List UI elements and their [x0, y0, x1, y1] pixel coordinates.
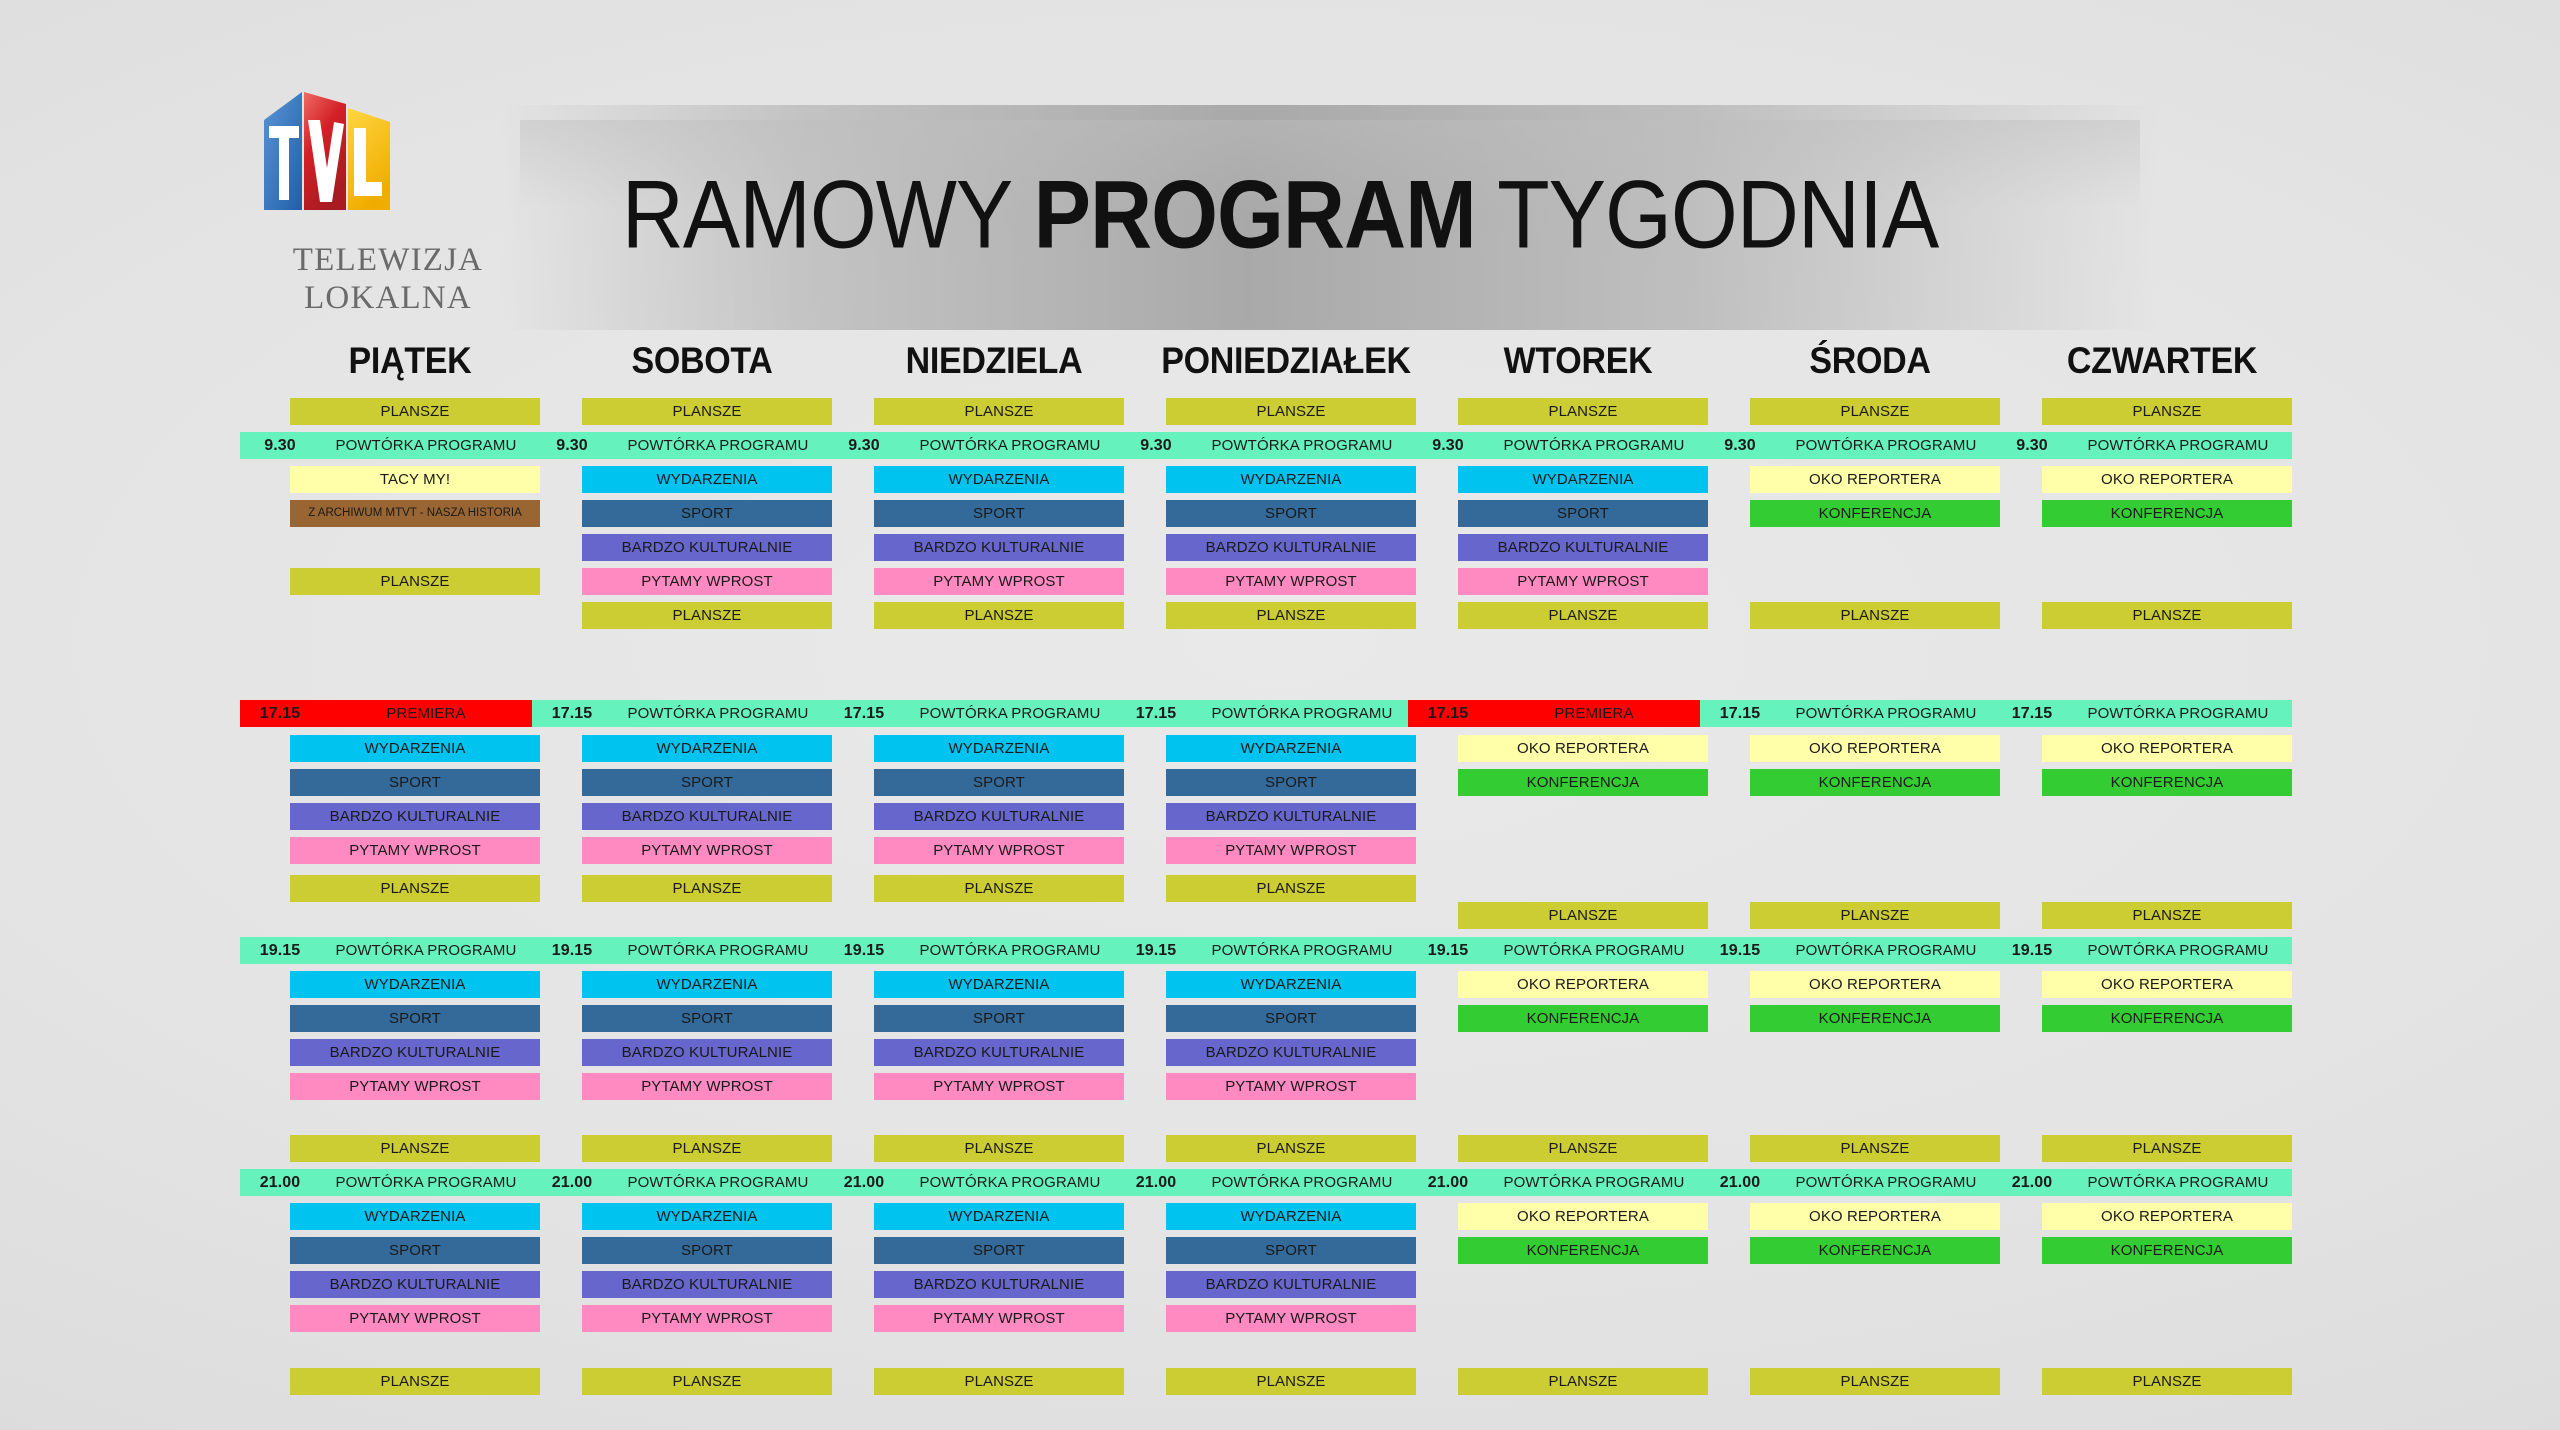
program-block-plansze[interactable]: PLANSZE: [1750, 1135, 2000, 1162]
program-block-sport[interactable]: SPORT: [290, 769, 540, 796]
program-block-wydarzenia[interactable]: WYDARZENIA: [1166, 971, 1416, 998]
program-block-wydarzenia[interactable]: WYDARZENIA: [290, 1203, 540, 1230]
page-title-part2: TYGODNIA: [1476, 161, 1939, 269]
program-block-konferencja[interactable]: KONFERENCJA: [2042, 1005, 2292, 1032]
program-block-pytamy[interactable]: PYTAMY WPROST: [874, 1305, 1124, 1332]
program-block-sport[interactable]: SPORT: [582, 1005, 832, 1032]
program-block-kulturalnie[interactable]: BARDZO KULTURALNIE: [1458, 534, 1708, 561]
program-label: POWTÓRKA PROGRAMU: [1780, 1169, 1992, 1196]
program-label: PREMIERA: [1488, 700, 1700, 727]
program-time: 17.15: [1408, 700, 1488, 727]
program-time: 19.15: [240, 937, 320, 964]
program-block-wydarzenia[interactable]: WYDARZENIA: [290, 971, 540, 998]
program-time: 9.30: [1408, 432, 1488, 459]
program-block-premiera[interactable]: 17.15PREMIERA: [240, 700, 540, 727]
day-header-sobota: SOBOTA: [552, 340, 852, 383]
program-block-plansze[interactable]: PLANSZE: [1458, 1368, 1708, 1395]
program-label: POWTÓRKA PROGRAMU: [2072, 700, 2284, 727]
page-title-bold: PROGRAM: [1034, 161, 1476, 269]
program-label: POWTÓRKA PROGRAMU: [904, 700, 1116, 727]
program-block-powtorka[interactable]: 21.00POWTÓRKA PROGRAMU: [240, 1169, 540, 1196]
program-block-powtorka[interactable]: 21.00POWTÓRKA PROGRAMU: [1700, 1169, 2000, 1196]
program-block-plansze[interactable]: PLANSZE: [874, 398, 1124, 425]
program-block-wydarzenia[interactable]: WYDARZENIA: [582, 1203, 832, 1230]
day-header-czwartek: CZWARTEK: [2012, 340, 2312, 383]
program-time: 21.00: [1700, 1169, 1780, 1196]
program-block-konferencja[interactable]: KONFERENCJA: [2042, 500, 2292, 527]
program-block-pytamy[interactable]: PYTAMY WPROST: [1166, 1073, 1416, 1100]
program-block-powtorka[interactable]: 19.15POWTÓRKA PROGRAMU: [824, 937, 1124, 964]
program-label: POWTÓRKA PROGRAMU: [1780, 937, 1992, 964]
program-time: 21.00: [1116, 1169, 1196, 1196]
program-block-sport[interactable]: SPORT: [582, 1237, 832, 1264]
program-block-oko[interactable]: OKO REPORTERA: [1750, 971, 2000, 998]
program-block-plansze[interactable]: PLANSZE: [874, 1368, 1124, 1395]
program-block-powtorka[interactable]: 21.00POWTÓRKA PROGRAMU: [532, 1169, 832, 1196]
program-label: POWTÓRKA PROGRAMU: [612, 700, 824, 727]
program-block-plansze[interactable]: PLANSZE: [1750, 1368, 2000, 1395]
program-block-plansze[interactable]: PLANSZE: [1750, 902, 2000, 929]
program-block-pytamy[interactable]: PYTAMY WPROST: [1458, 568, 1708, 595]
program-block-plansze[interactable]: PLANSZE: [2042, 902, 2292, 929]
program-block-konferencja[interactable]: KONFERENCJA: [1750, 1237, 2000, 1264]
program-block-powtorka[interactable]: 9.30POWTÓRKA PROGRAMU: [240, 432, 540, 459]
program-block-wydarzenia[interactable]: WYDARZENIA: [1166, 466, 1416, 493]
program-label: POWTÓRKA PROGRAMU: [2072, 1169, 2284, 1196]
program-block-pytamy[interactable]: PYTAMY WPROST: [874, 837, 1124, 864]
program-time: 21.00: [532, 1169, 612, 1196]
program-label: POWTÓRKA PROGRAMU: [904, 1169, 1116, 1196]
program-block-sport[interactable]: SPORT: [1166, 1005, 1416, 1032]
program-block-plansze[interactable]: PLANSZE: [582, 1368, 832, 1395]
program-block-powtorka[interactable]: 17.15POWTÓRKA PROGRAMU: [1992, 700, 2292, 727]
day-header-poniedziałek: PONIEDZIAŁEK: [1136, 340, 1436, 383]
program-block-sport[interactable]: SPORT: [582, 500, 832, 527]
program-label: POWTÓRKA PROGRAMU: [612, 432, 824, 459]
program-block-kulturalnie[interactable]: BARDZO KULTURALNIE: [582, 1271, 832, 1298]
program-block-pytamy[interactable]: PYTAMY WPROST: [582, 568, 832, 595]
program-block-konferencja[interactable]: KONFERENCJA: [1750, 1005, 2000, 1032]
program-block-kulturalnie[interactable]: BARDZO KULTURALNIE: [582, 1039, 832, 1066]
program-label: POWTÓRKA PROGRAMU: [904, 432, 1116, 459]
program-label: POWTÓRKA PROGRAMU: [612, 937, 824, 964]
program-block-kulturalnie[interactable]: BARDZO KULTURALNIE: [1166, 1271, 1416, 1298]
program-block-archiwum[interactable]: Z ARCHIWUM MTVT - NASZA HISTORIA: [290, 500, 540, 527]
program-time: 9.30: [1700, 432, 1780, 459]
program-label: POWTÓRKA PROGRAMU: [1488, 1169, 1700, 1196]
program-block-kulturalnie[interactable]: BARDZO KULTURALNIE: [874, 534, 1124, 561]
program-block-powtorka[interactable]: 19.15POWTÓRKA PROGRAMU: [1992, 937, 2292, 964]
program-block-konferencja[interactable]: KONFERENCJA: [1458, 1005, 1708, 1032]
poster-canvas: TELEWIZJA LOKALNA RAMOWY PROGRAM TYGODNI…: [0, 0, 2560, 1430]
program-block-plansze[interactable]: PLANSZE: [290, 1368, 540, 1395]
program-label: POWTÓRKA PROGRAMU: [904, 937, 1116, 964]
program-block-plansze[interactable]: PLANSZE: [2042, 398, 2292, 425]
program-block-oko[interactable]: OKO REPORTERA: [1458, 735, 1708, 762]
program-block-pytamy[interactable]: PYTAMY WPROST: [874, 568, 1124, 595]
program-block-plansze[interactable]: PLANSZE: [290, 1135, 540, 1162]
program-time: 17.15: [824, 700, 904, 727]
program-block-plansze[interactable]: PLANSZE: [1166, 398, 1416, 425]
program-block-powtorka[interactable]: 19.15POWTÓRKA PROGRAMU: [1116, 937, 1416, 964]
program-block-oko[interactable]: OKO REPORTERA: [2042, 971, 2292, 998]
program-block-sport[interactable]: SPORT: [1166, 500, 1416, 527]
program-time: 21.00: [240, 1169, 320, 1196]
program-block-oko[interactable]: OKO REPORTERA: [1750, 735, 2000, 762]
program-block-pytamy[interactable]: PYTAMY WPROST: [582, 1073, 832, 1100]
program-block-oko[interactable]: OKO REPORTERA: [1458, 1203, 1708, 1230]
program-block-pytamy[interactable]: PYTAMY WPROST: [582, 1305, 832, 1332]
program-time: 19.15: [1992, 937, 2072, 964]
program-time: 21.00: [824, 1169, 904, 1196]
program-block-plansze[interactable]: PLANSZE: [290, 398, 540, 425]
program-block-powtorka[interactable]: 19.15POWTÓRKA PROGRAMU: [532, 937, 832, 964]
logo-line-lokalna: LOKALNA: [258, 280, 518, 317]
day-header-piątek: PIĄTEK: [260, 340, 560, 383]
program-time: 9.30: [240, 432, 320, 459]
program-label: POWTÓRKA PROGRAMU: [1780, 432, 1992, 459]
program-block-kulturalnie[interactable]: BARDZO KULTURALNIE: [290, 803, 540, 830]
program-block-plansze[interactable]: PLANSZE: [1750, 602, 2000, 629]
program-block-premiera[interactable]: 17.15PREMIERA: [1408, 700, 1708, 727]
program-block-plansze[interactable]: PLANSZE: [1458, 902, 1708, 929]
program-block-plansze[interactable]: PLANSZE: [1458, 1135, 1708, 1162]
program-time: 19.15: [1116, 937, 1196, 964]
program-block-wydarzenia[interactable]: WYDARZENIA: [582, 971, 832, 998]
program-block-wydarzenia[interactable]: WYDARZENIA: [1166, 1203, 1416, 1230]
program-label: POWTÓRKA PROGRAMU: [1488, 937, 1700, 964]
program-label: PREMIERA: [320, 700, 532, 727]
program-block-plansze[interactable]: PLANSZE: [874, 602, 1124, 629]
program-block-pytamy[interactable]: PYTAMY WPROST: [874, 1073, 1124, 1100]
program-block-wydarzenia[interactable]: WYDARZENIA: [874, 466, 1124, 493]
program-label: POWTÓRKA PROGRAMU: [1196, 700, 1408, 727]
program-block-oko[interactable]: OKO REPORTERA: [1750, 1203, 2000, 1230]
program-time: 21.00: [1992, 1169, 2072, 1196]
program-block-pytamy[interactable]: PYTAMY WPROST: [582, 837, 832, 864]
program-block-powtorka[interactable]: 21.00POWTÓRKA PROGRAMU: [1116, 1169, 1416, 1196]
program-block-wydarzenia[interactable]: WYDARZENIA: [1458, 466, 1708, 493]
program-time: 17.15: [532, 700, 612, 727]
program-block-wydarzenia[interactable]: WYDARZENIA: [874, 971, 1124, 998]
program-block-wydarzenia[interactable]: WYDARZENIA: [1166, 735, 1416, 762]
program-block-pytamy[interactable]: PYTAMY WPROST: [1166, 1305, 1416, 1332]
program-time: 17.15: [240, 700, 320, 727]
program-block-oko[interactable]: OKO REPORTERA: [1750, 466, 2000, 493]
program-block-plansze[interactable]: PLANSZE: [874, 875, 1124, 902]
program-block-plansze[interactable]: PLANSZE: [582, 602, 832, 629]
program-block-konferencja[interactable]: KONFERENCJA: [1458, 1237, 1708, 1264]
program-block-plansze[interactable]: PLANSZE: [1166, 1135, 1416, 1162]
program-block-powtorka[interactable]: 19.15POWTÓRKA PROGRAMU: [1700, 937, 2000, 964]
program-block-plansze[interactable]: PLANSZE: [290, 568, 540, 595]
program-block-oko[interactable]: OKO REPORTERA: [2042, 1203, 2292, 1230]
page-title: RAMOWY PROGRAM TYGODNIA: [0, 160, 2560, 271]
program-time: 19.15: [824, 937, 904, 964]
program-block-plansze[interactable]: PLANSZE: [1166, 1368, 1416, 1395]
program-time: 19.15: [532, 937, 612, 964]
program-block-wydarzenia[interactable]: WYDARZENIA: [290, 735, 540, 762]
program-block-wydarzenia[interactable]: WYDARZENIA: [582, 735, 832, 762]
program-block-oko[interactable]: OKO REPORTERA: [1458, 971, 1708, 998]
program-block-kulturalnie[interactable]: BARDZO KULTURALNIE: [582, 534, 832, 561]
program-label: POWTÓRKA PROGRAMU: [320, 432, 532, 459]
program-block-powtorka[interactable]: 17.15POWTÓRKA PROGRAMU: [1116, 700, 1416, 727]
program-block-pytamy[interactable]: PYTAMY WPROST: [290, 1073, 540, 1100]
program-block-sport[interactable]: SPORT: [874, 1237, 1124, 1264]
program-block-plansze[interactable]: PLANSZE: [2042, 1135, 2292, 1162]
program-block-powtorka[interactable]: 19.15POWTÓRKA PROGRAMU: [1408, 937, 1708, 964]
program-block-pytamy[interactable]: PYTAMY WPROST: [290, 1305, 540, 1332]
program-time: 9.30: [824, 432, 904, 459]
program-block-powtorka[interactable]: 21.00POWTÓRKA PROGRAMU: [1992, 1169, 2292, 1196]
program-block-sport[interactable]: SPORT: [874, 769, 1124, 796]
program-block-powtorka[interactable]: 17.15POWTÓRKA PROGRAMU: [532, 700, 832, 727]
program-block-plansze[interactable]: PLANSZE: [874, 1135, 1124, 1162]
program-block-plansze[interactable]: PLANSZE: [2042, 1368, 2292, 1395]
program-block-powtorka[interactable]: 9.30POWTÓRKA PROGRAMU: [824, 432, 1124, 459]
program-block-oko[interactable]: OKO REPORTERA: [2042, 466, 2292, 493]
program-time: 9.30: [532, 432, 612, 459]
program-time: 19.15: [1408, 937, 1488, 964]
day-header-wtorek: WTOREK: [1428, 340, 1728, 383]
program-time: 19.15: [1700, 937, 1780, 964]
program-block-konferencja[interactable]: KONFERENCJA: [1750, 769, 2000, 796]
program-block-powtorka[interactable]: 9.30POWTÓRKA PROGRAMU: [532, 432, 832, 459]
program-block-kulturalnie[interactable]: BARDZO KULTURALNIE: [290, 1039, 540, 1066]
program-block-sport[interactable]: SPORT: [874, 500, 1124, 527]
program-block-kulturalnie[interactable]: BARDZO KULTURALNIE: [1166, 803, 1416, 830]
program-block-plansze[interactable]: PLANSZE: [582, 1135, 832, 1162]
program-block-tacy_my[interactable]: TACY MY!: [290, 466, 540, 493]
program-block-pytamy[interactable]: PYTAMY WPROST: [1166, 837, 1416, 864]
program-block-powtorka[interactable]: 17.15POWTÓRKA PROGRAMU: [824, 700, 1124, 727]
program-block-plansze[interactable]: PLANSZE: [1750, 398, 2000, 425]
program-block-plansze[interactable]: PLANSZE: [290, 875, 540, 902]
program-label: POWTÓRKA PROGRAMU: [320, 1169, 532, 1196]
program-block-wydarzenia[interactable]: WYDARZENIA: [874, 735, 1124, 762]
page-title-part1: RAMOWY: [622, 161, 1034, 269]
program-time: 17.15: [1116, 700, 1196, 727]
program-block-kulturalnie[interactable]: BARDZO KULTURALNIE: [874, 1039, 1124, 1066]
program-block-powtorka[interactable]: 9.30POWTÓRKA PROGRAMU: [1700, 432, 2000, 459]
program-block-pytamy[interactable]: PYTAMY WPROST: [1166, 568, 1416, 595]
program-block-sport[interactable]: SPORT: [874, 1005, 1124, 1032]
program-block-powtorka[interactable]: 21.00POWTÓRKA PROGRAMU: [1408, 1169, 1708, 1196]
program-block-konferencja[interactable]: KONFERENCJA: [2042, 1237, 2292, 1264]
program-block-powtorka[interactable]: 19.15POWTÓRKA PROGRAMU: [240, 937, 540, 964]
program-time: 17.15: [1992, 700, 2072, 727]
program-block-plansze[interactable]: PLANSZE: [1166, 875, 1416, 902]
program-block-pytamy[interactable]: PYTAMY WPROST: [290, 837, 540, 864]
program-block-plansze[interactable]: PLANSZE: [582, 398, 832, 425]
program-label: POWTÓRKA PROGRAMU: [2072, 937, 2284, 964]
program-label: POWTÓRKA PROGRAMU: [1196, 937, 1408, 964]
program-label: POWTÓRKA PROGRAMU: [1488, 432, 1700, 459]
program-block-kulturalnie[interactable]: BARDZO KULTURALNIE: [290, 1271, 540, 1298]
program-block-kulturalnie[interactable]: BARDZO KULTURALNIE: [1166, 1039, 1416, 1066]
program-label: POWTÓRKA PROGRAMU: [1780, 700, 1992, 727]
program-block-konferencja[interactable]: KONFERENCJA: [2042, 769, 2292, 796]
program-block-kulturalnie[interactable]: BARDZO KULTURALNIE: [582, 803, 832, 830]
program-block-sport[interactable]: SPORT: [1166, 769, 1416, 796]
program-block-powtorka[interactable]: 9.30POWTÓRKA PROGRAMU: [1408, 432, 1708, 459]
program-block-sport[interactable]: SPORT: [1458, 500, 1708, 527]
program-label: POWTÓRKA PROGRAMU: [1196, 1169, 1408, 1196]
program-block-plansze[interactable]: PLANSZE: [1458, 398, 1708, 425]
program-block-plansze[interactable]: PLANSZE: [2042, 602, 2292, 629]
day-header-niedziela: NIEDZIELA: [844, 340, 1144, 383]
program-label: POWTÓRKA PROGRAMU: [320, 937, 532, 964]
program-block-sport[interactable]: SPORT: [1166, 1237, 1416, 1264]
program-block-kulturalnie[interactable]: BARDZO KULTURALNIE: [874, 1271, 1124, 1298]
program-time: 9.30: [1992, 432, 2072, 459]
program-block-sport[interactable]: SPORT: [290, 1237, 540, 1264]
program-time: 9.30: [1116, 432, 1196, 459]
program-label: POWTÓRKA PROGRAMU: [1196, 432, 1408, 459]
program-block-kulturalnie[interactable]: BARDZO KULTURALNIE: [1166, 534, 1416, 561]
program-block-powtorka[interactable]: 21.00POWTÓRKA PROGRAMU: [824, 1169, 1124, 1196]
program-block-kulturalnie[interactable]: BARDZO KULTURALNIE: [874, 803, 1124, 830]
program-block-konferencja[interactable]: KONFERENCJA: [1458, 769, 1708, 796]
program-block-wydarzenia[interactable]: WYDARZENIA: [582, 466, 832, 493]
program-block-plansze[interactable]: PLANSZE: [582, 875, 832, 902]
program-block-konferencja[interactable]: KONFERENCJA: [1750, 500, 2000, 527]
program-block-powtorka[interactable]: 9.30POWTÓRKA PROGRAMU: [1992, 432, 2292, 459]
program-block-sport[interactable]: SPORT: [582, 769, 832, 796]
program-label: POWTÓRKA PROGRAMU: [2072, 432, 2284, 459]
program-label: POWTÓRKA PROGRAMU: [612, 1169, 824, 1196]
program-block-wydarzenia[interactable]: WYDARZENIA: [874, 1203, 1124, 1230]
program-block-oko[interactable]: OKO REPORTERA: [2042, 735, 2292, 762]
program-block-powtorka[interactable]: 17.15POWTÓRKA PROGRAMU: [1700, 700, 2000, 727]
day-header-środa: ŚRODA: [1720, 340, 2020, 383]
program-block-sport[interactable]: SPORT: [290, 1005, 540, 1032]
program-time: 17.15: [1700, 700, 1780, 727]
program-block-plansze[interactable]: PLANSZE: [1458, 602, 1708, 629]
program-block-plansze[interactable]: PLANSZE: [1166, 602, 1416, 629]
program-time: 21.00: [1408, 1169, 1488, 1196]
program-block-powtorka[interactable]: 9.30POWTÓRKA PROGRAMU: [1116, 432, 1416, 459]
